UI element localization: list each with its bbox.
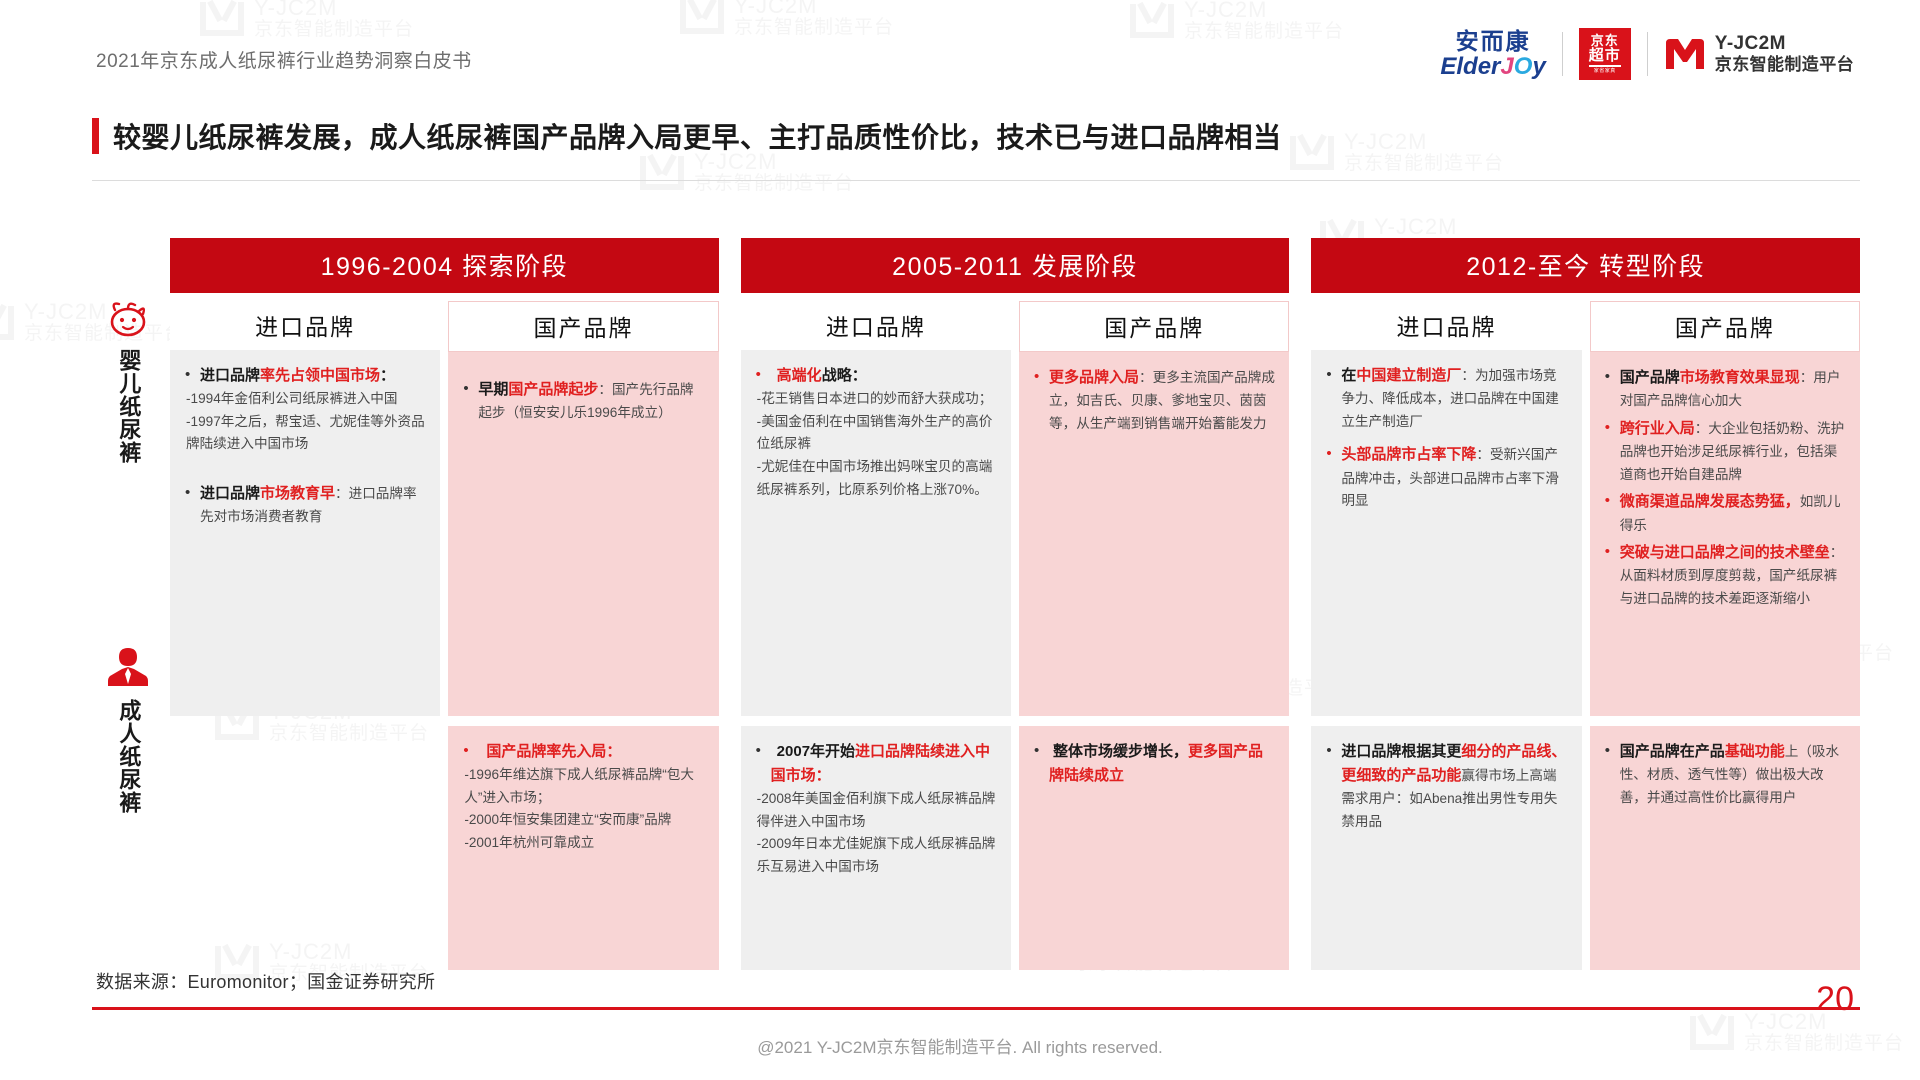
point-line: -2009年日本尤佳妮旗下成人纸尿裤品牌乐互易进入中国市场 (757, 833, 998, 878)
point-line: -2000年恒安集团建立“安而康”品牌 (464, 809, 705, 832)
point-line: -美国金佰利在中国销售海外生产的高价位纸尿裤 (757, 411, 998, 456)
watermark-en: Y-JC2M (1374, 215, 1534, 239)
elderjoy-logo-en: ElderJOy (1440, 55, 1545, 79)
subheader-import: 进口品牌 (1311, 301, 1581, 350)
jd-logo-line1: 京东 (1591, 34, 1619, 48)
phase-2-import-column: 进口品牌 高端化战略： -花王销售日本进口的妙而舒大获成功； -美国金佰利在中国… (741, 301, 1011, 970)
point-line: -1996年维达旗下成人纸尿裤品牌“包大人”进入市场； (464, 764, 705, 809)
phase-header-3: 2012-至今 转型阶段 (1311, 238, 1860, 293)
point-head-accent: 率先占领中国市场 (260, 367, 380, 384)
point-head: 进口品牌根据其更 (1341, 743, 1461, 760)
phase-2-domestic-column: 国产品牌 更多品牌入局：更多主流国产品牌成立，如吉氏、贝康、爹地宝贝、茵茵等，从… (1019, 301, 1289, 970)
point-head: 进口品牌 (200, 367, 260, 384)
row-label-adult-text: 成人纸尿裤 (116, 699, 141, 814)
logo-divider (1562, 32, 1563, 76)
cell-p3-baby-import: 在中国建立制造厂：为加强市场竞争力、降低成本，进口品牌在中国建立生产制造厂 头部… (1311, 350, 1581, 716)
cell-p3-adult-domestic: 国产品牌在产品基础功能上（吸水性、材质、透气性等）做出极大改善，并通过高性价比赢… (1590, 726, 1860, 970)
phase-column-3: 2012-至今 转型阶段 进口品牌 在中国建立制造厂：为加强市场竞争力、降低成本… (1311, 238, 1860, 970)
cell-p2-baby-domestic: 更多品牌入局：更多主流国产品牌成立，如吉氏、贝康、爹地宝贝、茵茵等，从生产端到销… (1019, 352, 1289, 716)
row-label-adult: 成人纸尿裤 (92, 646, 164, 814)
point-head-accent: 市场教育早 (260, 485, 335, 502)
list-item: 进口品牌市场教育早：进口品牌率先对市场消费者教育 (180, 482, 427, 529)
list-item: 在中国建立制造厂：为加强市场竞争力、降低成本，进口品牌在中国建立生产制造厂 (1321, 364, 1568, 433)
yjc2m-logo: Y-JC2M 京东智能制造平台 (1664, 33, 1854, 74)
list-item: 突破与进口品牌之间的技术壁垒：从面料材质到厚度剪裁，国产纸尿裤与进口品牌的技术差… (1600, 541, 1847, 610)
list-item: 跨行业入局：大企业包括奶粉、洗护品牌也开始涉足纸尿裤行业，包括渠道商也开始自建品… (1600, 417, 1847, 486)
list-item: 进口品牌率先占领中国市场： -1994年金佰利公司纸尿裤进入中国 -1997年之… (180, 364, 427, 456)
phase-column-1: 1996-2004 探索阶段 进口品牌 进口品牌率先占领中国市场： -1994年… (170, 238, 719, 970)
watermark-cn: 京东智能制造平台 (694, 174, 854, 195)
row-label-baby: 婴儿纸尿裤 (92, 298, 164, 464)
cell-p1-adult-domestic: 国产品牌率先入局： -1996年维达旗下成人纸尿裤品牌“包大人”进入市场； -2… (448, 726, 718, 970)
list-item: 国产品牌率先入局： -1996年维达旗下成人纸尿裤品牌“包大人”进入市场； -2… (458, 740, 705, 855)
subheader-domestic: 国产品牌 (448, 301, 718, 352)
yjc2m-mark-icon (0, 306, 14, 340)
row-label-column: 婴儿纸尿裤 成人纸尿裤 (92, 238, 164, 970)
document-header: 2021年京东成人纸尿裤行业趋势洞察白皮书 安而康 ElderJOy 京东 超市… (0, 0, 1920, 92)
point-head-accent: 国产品牌起步 (508, 381, 598, 398)
row-label-baby-text: 婴儿纸尿裤 (116, 349, 141, 464)
page-title: 较婴儿纸尿裤发展，成人纸尿裤国产品牌入局更早、主打品质性价比，技术已与进口品牌相… (113, 116, 1282, 156)
phase-column-2: 2005-2011 发展阶段 进口品牌 高端化战略： -花王销售日本进口的妙而舒… (741, 238, 1290, 970)
elderjoy-en-part1: Elder (1440, 53, 1500, 80)
point-head-accent: 国产品牌率先入局： (478, 743, 621, 760)
page-title-row: 较婴儿纸尿裤发展，成人纸尿裤国产品牌入局更早、主打品质性价比，技术已与进口品牌相… (92, 112, 1860, 160)
point-line: -2001年杭州可靠成立 (464, 832, 705, 855)
cell-p1-baby-domestic: 早期国产品牌起步：国产先行品牌起步（恒安安儿乐1996年成立） (448, 352, 718, 716)
point-head: 战略： (822, 367, 867, 384)
cell-p3-adult-import: 进口品牌根据其更细分的产品线、更细致的产品功能赢得市场上高端需求用户：如Aben… (1311, 726, 1581, 970)
list-item: 2007年开始进口品牌陆续进入中国市场： -2008年美国金佰利旗下成人纸尿裤品… (751, 740, 998, 879)
cell-p3-baby-domestic: 国产品牌市场教育效果显现：用户对国产品牌信心加大 跨行业入局：大企业包括奶粉、洗… (1590, 352, 1860, 716)
point-line: -尤妮佳在中国市场推出妈咪宝贝的高端纸尿裤系列，比原系列价格上涨70%。 (757, 456, 998, 501)
list-item: 整体市场缓步增长，更多国产品牌陆续成立 (1029, 740, 1276, 789)
subheader-import: 进口品牌 (170, 301, 440, 350)
yjc2m-logo-en: Y-JC2M (1715, 33, 1854, 55)
point-head-accent: 更多品牌入局 (1049, 369, 1139, 386)
point-head-accent: 中国建立制造厂 (1356, 367, 1461, 384)
point-head-accent: 突破与进口品牌之间的技术壁垒 (1620, 544, 1830, 561)
title-divider (92, 180, 1860, 181)
subheader-domestic: 国产品牌 (1019, 301, 1289, 352)
point-head: 进口品牌 (200, 485, 260, 502)
cell-p2-adult-import: 2007年开始进口品牌陆续进入中国市场： -2008年美国金佰利旗下成人纸尿裤品… (741, 726, 1011, 970)
jd-supermarket-logo: 京东 超市 家省家真 (1579, 28, 1631, 80)
elderjoy-en-j: J (1500, 53, 1513, 80)
point-head: 国产品牌 (1620, 369, 1680, 386)
point-head-accent: 微商渠道品牌发展态势猛， (1620, 493, 1800, 510)
list-item: 更多品牌入局：更多主流国产品牌成立，如吉氏、贝康、爹地宝贝、茵茵等，从生产端到销… (1029, 366, 1276, 435)
jd-logo-line3: 家省家真 (1594, 69, 1616, 74)
cell-p1-baby-import: 进口品牌率先占领中国市场： -1994年金佰利公司纸尿裤进入中国 -1997年之… (170, 350, 440, 716)
title-accent-bar (92, 118, 99, 154)
footer-divider (92, 1007, 1860, 1010)
point-head: 早期 (478, 381, 508, 398)
cell-p1-adult-import-empty (170, 726, 440, 970)
jd-logo-line2: 超市 (1589, 48, 1621, 67)
elderjoy-logo-cn: 安而康 (1456, 30, 1531, 53)
phase-header-1: 1996-2004 探索阶段 (170, 238, 719, 293)
phase-3-subcolumns: 进口品牌 在中国建立制造厂：为加强市场竞争力、降低成本，进口品牌在中国建立生产制… (1311, 301, 1860, 970)
phase-2-subcolumns: 进口品牌 高端化战略： -花王销售日本进口的妙而舒大获成功； -美国金佰利在中国… (741, 301, 1290, 970)
subheader-domestic: 国产品牌 (1590, 301, 1860, 352)
phase-1-import-column: 进口品牌 进口品牌率先占领中国市场： -1994年金佰利公司纸尿裤进入中国 -1… (170, 301, 440, 970)
point-head-accent: 高端化 (771, 367, 822, 384)
elderjoy-logo: 安而康 ElderJOy (1440, 30, 1545, 79)
page-number: 20 (1816, 982, 1854, 1016)
list-item: 微商渠道品牌发展态势猛，如凯儿得乐 (1600, 490, 1847, 537)
list-item: 头部品牌市占率下降：受新兴国产品牌冲击，头部进口品牌市占率下滑明显 (1321, 443, 1568, 512)
point-head: 在 (1341, 367, 1356, 384)
phase-columns: 1996-2004 探索阶段 进口品牌 进口品牌率先占领中国市场： -1994年… (170, 238, 1860, 970)
adult-person-icon (108, 646, 148, 693)
phase-1-subcolumns: 进口品牌 进口品牌率先占领中国市场： -1994年金佰利公司纸尿裤进入中国 -1… (170, 301, 719, 970)
point-line: -1997年之后，帮宝适、尤妮佳等外资品牌陆续进入中国市场 (186, 411, 427, 456)
phase-header-2: 2005-2011 发展阶段 (741, 238, 1290, 293)
list-item: 进口品牌根据其更细分的产品线、更细致的产品功能赢得市场上高端需求用户：如Aben… (1321, 740, 1568, 834)
yjc2m-logo-cn: 京东智能制造平台 (1715, 55, 1854, 75)
cell-p2-adult-domestic: 整体市场缓步增长，更多国产品牌陆续成立 (1019, 726, 1289, 970)
list-item: 高端化战略： -花王销售日本进口的妙而舒大获成功； -美国金佰利在中国销售海外生… (751, 364, 998, 501)
list-item: 早期国产品牌起步：国产先行品牌起步（恒安安儿乐1996年成立） (458, 378, 705, 425)
point-head-tail: ： (380, 367, 395, 384)
subheader-import: 进口品牌 (741, 301, 1011, 350)
yjc2m-mark-icon (640, 156, 684, 190)
baby-face-icon (105, 298, 151, 343)
point-line: -1994年金佰利公司纸尿裤进入中国 (186, 388, 427, 411)
phase-3-import-column: 进口品牌 在中国建立制造厂：为加强市场竞争力、降低成本，进口品牌在中国建立生产制… (1311, 301, 1581, 970)
elderjoy-en-y: y (1532, 53, 1545, 80)
list-item: 国产品牌市场教育效果显现：用户对国产品牌信心加大 (1600, 366, 1847, 413)
cell-p2-baby-import: 高端化战略： -花王销售日本进口的妙而舒大获成功； -美国金佰利在中国销售海外生… (741, 350, 1011, 716)
timeline-matrix: 婴儿纸尿裤 成人纸尿裤 1996-2004 探索阶段 进口品牌 (92, 238, 1860, 970)
phase-3-domestic-column: 国产品牌 国产品牌市场教育效果显现：用户对国产品牌信心加大 跨行业入局：大企业包… (1590, 301, 1860, 970)
point-head: 2007年开始 (771, 743, 855, 760)
point-head-accent: 头部品牌市占率下降 (1341, 446, 1476, 463)
data-source-note: 数据来源：Euromonitor；国金证券研究所 (96, 968, 435, 994)
yjc2m-mark-icon (1664, 37, 1706, 71)
point-head: 国产品牌在产品 (1620, 743, 1725, 760)
point-head-accent: 市场教育效果显现 (1680, 369, 1800, 386)
report-subtitle: 2021年京东成人纸尿裤行业趋势洞察白皮书 (96, 46, 472, 73)
point-line: -花王销售日本进口的妙而舒大获成功； (757, 388, 998, 411)
copyright-text: @2021 Y-JC2M京东智能制造平台. All rights reserve… (0, 1033, 1920, 1058)
point-line: -2008年美国金佰利旗下成人纸尿裤品牌得伴进入中国市场 (757, 788, 998, 833)
logo-group: 安而康 ElderJOy 京东 超市 家省家真 Y-JC2M 京东智能制造平台 (1440, 28, 1854, 80)
list-item: 国产品牌在产品基础功能上（吸水性、材质、透气性等）做出极大改善，并通过高性价比赢… (1600, 740, 1847, 809)
logo-divider (1647, 32, 1648, 76)
phase-1-domestic-column: 国产品牌 早期国产品牌起步：国产先行品牌起步（恒安安儿乐1996年成立） (448, 301, 718, 970)
point-head-accent: 基础功能 (1725, 743, 1785, 760)
point-head: 整体市场缓步增长， (1049, 743, 1188, 760)
elderjoy-en-o: O (1514, 53, 1533, 80)
point-head-accent: 跨行业入局 (1620, 420, 1695, 437)
